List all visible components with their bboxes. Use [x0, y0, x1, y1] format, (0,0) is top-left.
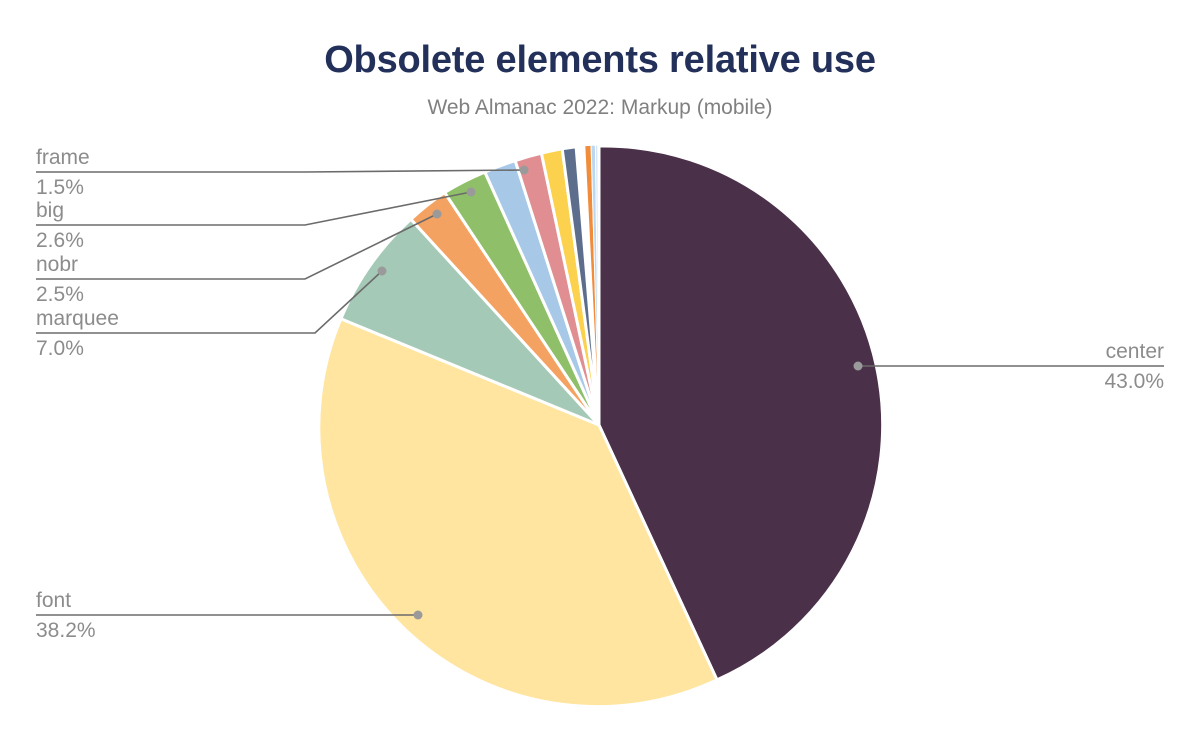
callout-center-value: 43.0%: [1104, 370, 1164, 393]
callout-frame-label: frame: [36, 146, 90, 169]
leader-dot-marquee: [378, 267, 387, 276]
callout-nobr-value: 2.5%: [36, 283, 84, 306]
leader-dot-center: [854, 362, 863, 371]
callout-big-label: big: [36, 199, 64, 222]
callout-center-label: center: [1106, 340, 1164, 363]
callout-nobr-label: nobr: [36, 253, 78, 276]
leader-dot-nobr: [433, 210, 442, 219]
callout-frame-value: 1.5%: [36, 176, 84, 199]
page-title: Obsolete elements relative use: [324, 39, 876, 81]
leader-dot-big: [467, 188, 476, 197]
leader-dot-font: [414, 611, 423, 620]
callout-marquee-label: marquee: [36, 307, 119, 330]
leader-dot-frame: [520, 166, 529, 175]
chart-subtitle: Web Almanac 2022: Markup (mobile): [427, 96, 772, 119]
callout-font-value: 38.2%: [36, 619, 96, 642]
pie-chart-figure: Obsolete elements relative use Web Alman…: [0, 0, 1200, 742]
callout-font-label: font: [36, 589, 71, 612]
callout-big-value: 2.6%: [36, 229, 84, 252]
callout-marquee-value: 7.0%: [36, 337, 84, 360]
pie-slices: [319, 145, 883, 707]
